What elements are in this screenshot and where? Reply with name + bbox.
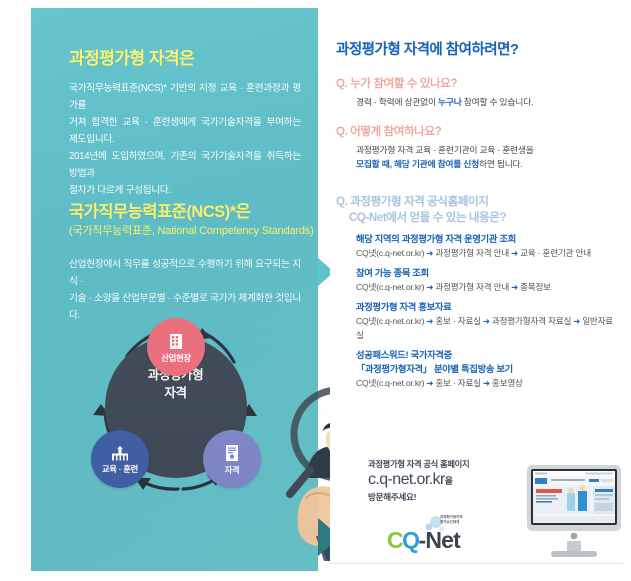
answer-who-pre: 경력 · 학력에 상관없이 (356, 97, 438, 107)
question-who: Q. 누가 참여할 수 있나요? (336, 76, 618, 92)
footer-divider (330, 563, 623, 564)
resource-path: CQ넷(c.q-net.or.kr)➜홍보 · 자료실➜과정평가형자격 자료실➜… (356, 314, 618, 342)
cycle-node-education: 교육 · 훈련 (91, 430, 149, 488)
answer-how-bold2: 참여를 신청 (438, 159, 479, 169)
resource-path-step: 홍보 · 자료실 (435, 378, 481, 388)
resource-path-step: 과정평가형 자격 안내 (435, 248, 509, 258)
arrow-right-icon: ➜ (424, 378, 435, 388)
qa-block-how: Q. 어떻게 참여하나요? 과정평가형 자격 교육 · 훈련기관이 교육 · 훈… (336, 124, 618, 171)
cq-net-logo[interactable]: 과정평가형자격 평가승인체계 CQ-Net (387, 513, 502, 561)
footer-visit-text: 방문해주세요! (368, 491, 518, 504)
answer-how-bold1: 모집할 때, 해당 기관에 (356, 159, 438, 169)
arrow-right-icon: ➜ (509, 282, 520, 292)
school-icon-svg (110, 445, 130, 462)
question-website-line2: CQ-Net에서 얻을 수 있는 내용은? (336, 210, 618, 226)
resource-path: CQ넷(c.q-net.or.kr)➜과정평가형 자격 안내➜종목정보 (356, 280, 618, 294)
left-body1-line4: 2014년에 도입하였으며, 기존의 국가기술자격을 취득하는 방법과 (69, 148, 301, 182)
left-body-secondary: 산업현장에서 직무를 성공적으로 수행하기 위해 요구되는 지식 · 기술 · … (69, 256, 301, 324)
question-how: Q. 어떻게 참여하나요? (336, 124, 618, 140)
arrow-right-icon: ➜ (481, 378, 492, 388)
cycle-node-certificate: 자격 (203, 430, 261, 488)
factory-icon (168, 332, 184, 351)
left-heading-primary: 과정평가형 자격은 (69, 44, 194, 69)
resource-path-step: 홍보영상 (492, 378, 523, 388)
footer-url-text: c.q-net.or.kr (368, 471, 445, 488)
resource-path-step: 과정평가형 자격 안내 (435, 282, 509, 292)
resource-path-step: CQ넷(c.q-net.or.kr) (356, 282, 424, 292)
footer-url[interactable]: c.q-net.or.kr을 (368, 470, 518, 491)
left-body1-line3: 제도입니다. (69, 131, 301, 148)
left-body-primary: 국가직무능력표준(NCS)* 기반의 지정 교육 · 훈련과정과 평가를 거쳐 … (69, 80, 301, 199)
footer-url-suffix: 을 (445, 476, 453, 486)
certificate-icon-svg (225, 444, 239, 462)
resource-title: 성공패스워드! 국가자격증 (356, 348, 618, 362)
answer-how-line1: 과정평가형 자격 교육 · 훈련기관이 교육 · 훈련생을 (356, 143, 618, 157)
resource-item[interactable]: 성공패스워드! 국가자격증 「과정평가형자격」 분야별 특집방송 보기 CQ넷(… (356, 348, 618, 390)
resource-item[interactable]: 과정평가형 자격 홍보자료 CQ넷(c.q-net.or.kr)➜홍보 · 자료… (356, 300, 618, 342)
resource-path-step: 과정평가형자격 자료실 (492, 316, 571, 326)
school-icon (110, 445, 130, 463)
cycle-node-industry: 산업현장 (147, 318, 205, 376)
answer-how-line2: 모집할 때, 해당 기관에 참여를 신청하면 됩니다. (356, 157, 618, 171)
logo-micro-text: 과정평가형자격 평가승인체계 (440, 515, 462, 524)
resource-item[interactable]: 해당 지역의 과정평가형 자격 운영기관 조회 CQ넷(c.q-net.or.k… (356, 232, 618, 260)
logo-micro-line2: 평가승인체계 (440, 520, 462, 525)
left-body2-line1: 산업현장에서 직무를 성공적으로 수행하기 위해 요구되는 지식 · (69, 256, 301, 290)
arrow-right-icon: ➜ (481, 316, 492, 326)
left-teal-panel: 과정평가형 자격은 국가직무능력표준(NCS)* 기반의 지정 교육 · 훈련과… (31, 8, 318, 571)
qa-block-who: Q. 누가 참여할 수 있나요? 경력 · 학력에 상관없이 누구나 참여할 수… (336, 76, 618, 109)
arrow-right-icon: ➜ (571, 316, 582, 326)
resource-path-step: CQ넷(c.q-net.or.kr) (356, 378, 424, 388)
cycle-core-line2: 자격 (83, 384, 268, 402)
logo-micro-line1: 과정평가형자격 (440, 515, 462, 520)
resource-path: CQ넷(c.q-net.or.kr)➜과정평가형 자격 안내➜교육 · 훈련기관… (356, 246, 618, 260)
cycle-node-certificate-label: 자격 (225, 466, 240, 474)
answer-how-post: 하면 됩니다. (479, 159, 523, 169)
right-content-panel: 과정평가형 자격에 참여하려면? Q. 누가 참여할 수 있나요? 경력 · 학… (330, 8, 623, 571)
factory-icon-svg (168, 332, 184, 350)
left-heading-secondary: 국가직무능력표준(NCS)*은 (69, 198, 250, 222)
question-website-line1: Q. 과정평가형 자격 공식홈페이지 (336, 194, 618, 210)
resource-path-step: 종목정보 (520, 282, 551, 292)
resource-title-secondary: 「과정평가형자격」 분야별 특집방송 보기 (356, 362, 618, 376)
footer-promo: 과정평가형 자격 공식 홈페이지 c.q-net.or.kr을 방문해주세요! (368, 458, 518, 504)
left-body1-line1: 국가직무능력표준(NCS)* 기반의 지정 교육 · 훈련과정과 평가를 (69, 80, 301, 114)
left-body1-line5: 절차가 다르게 구성됩니다. (69, 182, 301, 199)
qa-block-website: Q. 과정평가형 자격 공식홈페이지 CQ-Net에서 얻을 수 있는 내용은?… (336, 194, 618, 390)
logo-letter-net: -Net (419, 527, 461, 553)
cycle-diagram: 과정평가형 자격 산업현장 (83, 318, 268, 498)
footer-caption: 과정평가형 자격 공식 홈페이지 (368, 458, 518, 470)
left-body1-line2: 거쳐 합격한 교육 · 훈련생에게 국가기술자격을 부여하는 (69, 114, 301, 131)
certificate-icon (225, 444, 239, 463)
arrow-right-icon: ➜ (509, 248, 520, 258)
cycle-node-education-label: 교육 · 훈련 (102, 465, 138, 473)
logo-letter-q: Q (402, 527, 418, 553)
logo-letter-c: C (387, 527, 402, 553)
resource-path-step: 홍보 · 자료실 (435, 316, 481, 326)
monitor-illustration (525, 463, 623, 563)
left-subtitle-ncs: (국가직무능력표준, National Competency Standards… (69, 222, 314, 238)
resource-path: CQ넷(c.q-net.or.kr)➜홍보 · 자료실➜홍보영상 (356, 376, 618, 390)
resource-title: 해당 지역의 과정평가형 자격 운영기관 조회 (356, 232, 618, 246)
logo-wordmark: CQ-Net (387, 527, 460, 553)
resource-title: 과정평가형 자격 홍보자료 (356, 300, 618, 314)
resource-title: 참여 가능 종목 조회 (356, 266, 618, 280)
arrow-right-icon: ➜ (424, 282, 435, 292)
arrow-right-icon: ➜ (424, 248, 435, 258)
page-title: 과정평가형 자격에 참여하려면? (336, 38, 518, 59)
answer-who: 경력 · 학력에 상관없이 누구나 참여할 수 있습니다. (356, 95, 618, 109)
answer-who-bold: 누구나 (438, 97, 462, 107)
resource-path-step: CQ넷(c.q-net.or.kr) (356, 316, 424, 326)
resource-item[interactable]: 참여 가능 종목 조회 CQ넷(c.q-net.or.kr)➜과정평가형 자격 … (356, 266, 618, 294)
brochure-page: 과정평가형 자격은 국가직무능력표준(NCS)* 기반의 지정 교육 · 훈련과… (0, 0, 631, 581)
cycle-node-industry-label: 산업현장 (161, 354, 191, 362)
answer-how: 과정평가형 자격 교육 · 훈련기관이 교육 · 훈련생을 모집할 때, 해당 … (356, 143, 618, 171)
arrow-right-icon: ➜ (424, 316, 435, 326)
answer-who-post: 참여할 수 있습니다. (462, 97, 534, 107)
resource-path-step: 교육 · 훈련기관 안내 (520, 248, 591, 258)
resource-path-step: CQ넷(c.q-net.or.kr) (356, 248, 424, 258)
